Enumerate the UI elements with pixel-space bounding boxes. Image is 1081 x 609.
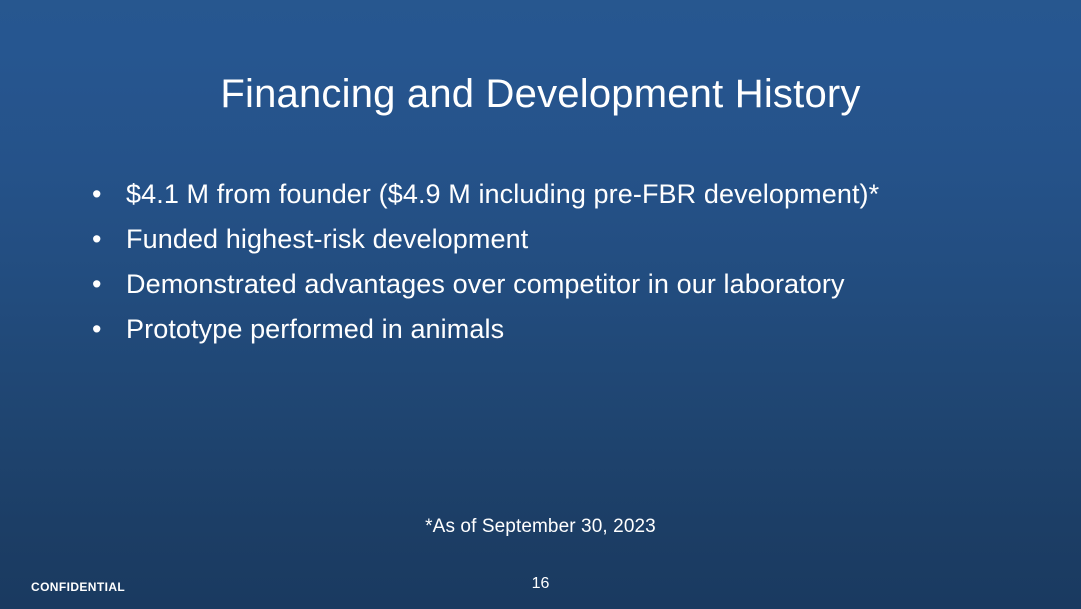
list-item: • Funded highest-risk development <box>92 221 1012 266</box>
list-item: • $4.1 M from founder ($4.9 M including … <box>92 176 1012 221</box>
list-item-label: Prototype performed in animals <box>126 311 1012 347</box>
list-item-label: Funded highest-risk development <box>126 221 1012 257</box>
footnote: *As of September 30, 2023 <box>0 515 1081 539</box>
slide: Financing and Development History • $4.1… <box>0 0 1081 609</box>
bullet-point-icon: • <box>92 266 126 302</box>
list-item: • Prototype performed in animals <box>92 311 1012 356</box>
list-item: • Demonstrated advantages over competito… <box>92 266 1012 311</box>
bullet-list: • $4.1 M from founder ($4.9 M including … <box>92 176 1012 356</box>
bullet-point-icon: • <box>92 221 126 257</box>
page-title: Financing and Development History <box>0 70 1081 118</box>
bullet-point-icon: • <box>92 311 126 347</box>
list-item-label: $4.1 M from founder ($4.9 M including pr… <box>126 176 1012 212</box>
bullet-point-icon: • <box>92 176 126 212</box>
list-item-label: Demonstrated advantages over competitor … <box>126 266 1012 302</box>
page-number: 16 <box>0 575 1081 593</box>
